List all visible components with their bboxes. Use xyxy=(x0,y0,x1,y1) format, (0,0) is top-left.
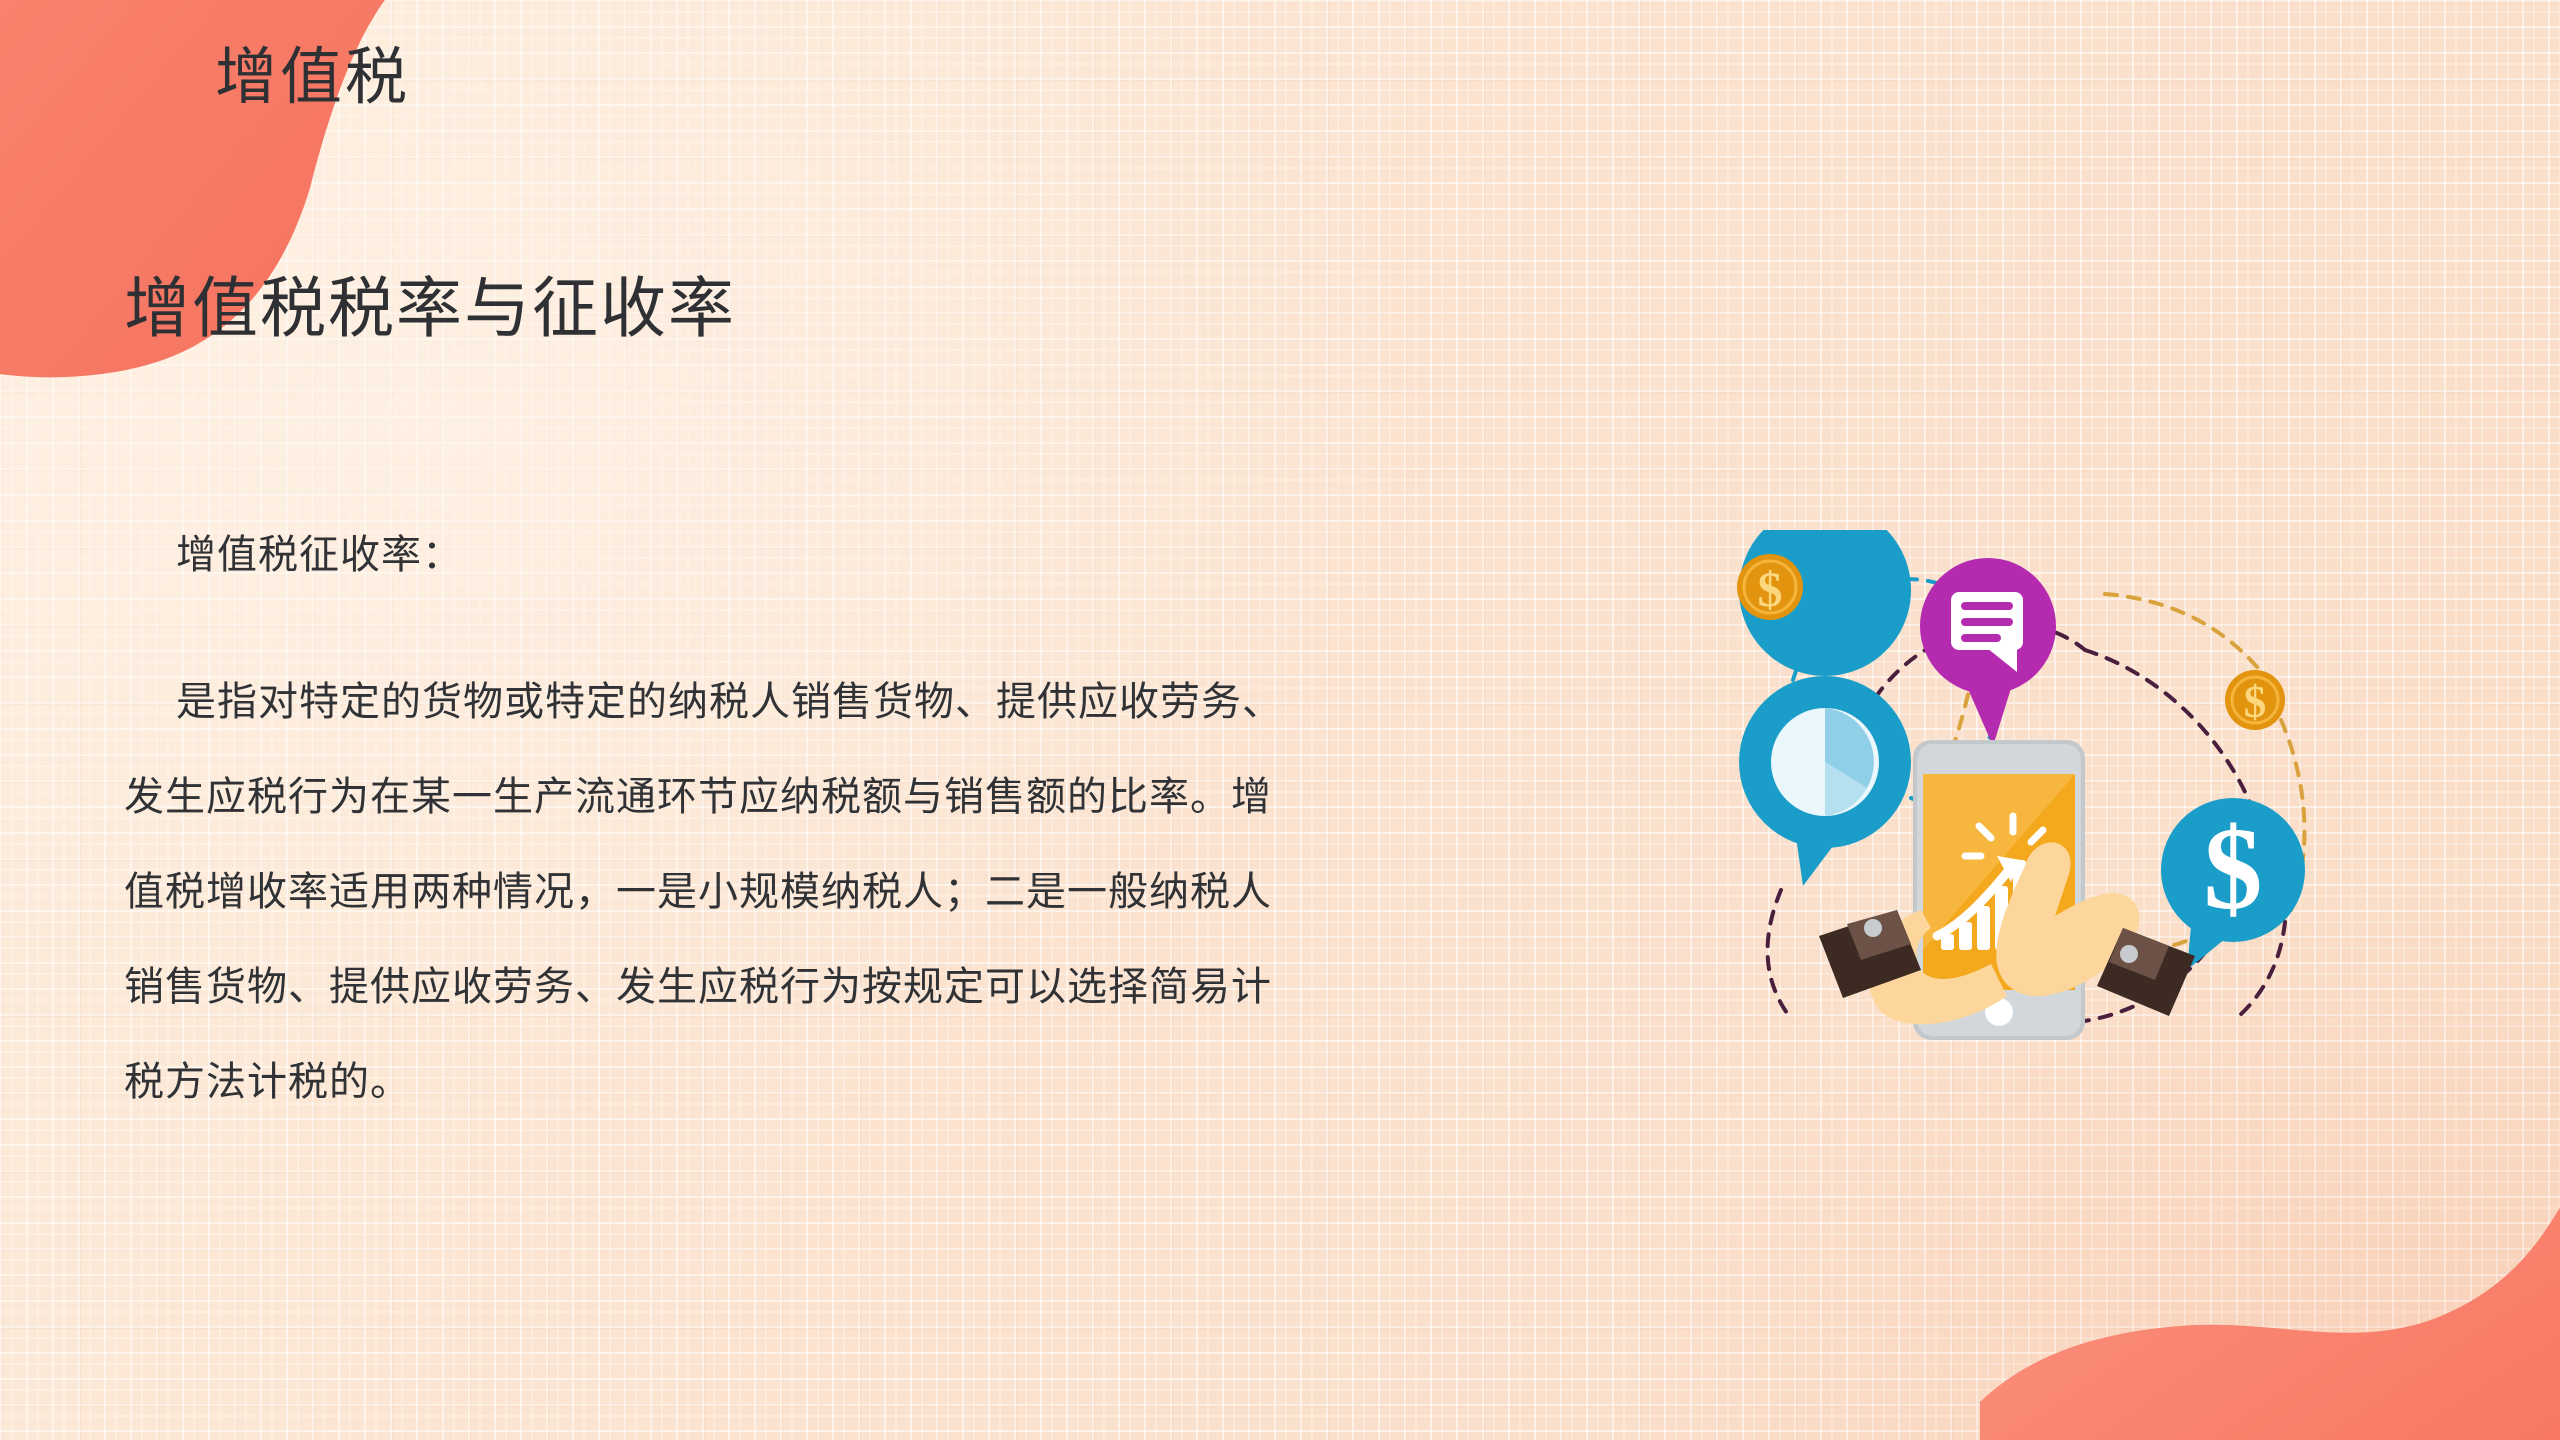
body-line: 是指对特定的货物或特定的纳税人销售货物、提供应收劳务、 xyxy=(124,655,1544,750)
body-line: 税方法计税的。 xyxy=(124,1035,1544,1130)
section-heading: 增值税税率与征收率 xyxy=(124,272,736,346)
corner-decoration-bottom-right xyxy=(1980,1140,2560,1440)
coin-top-left: $ xyxy=(1737,554,1803,620)
body-line: 值税增收率适用两种情况，一是小规模纳税人；二是一般纳税人 xyxy=(124,845,1544,940)
mobile-finance-illustration: $ $ $ $ xyxy=(1725,530,2345,1050)
dollar-sign-large: $ xyxy=(2204,803,2263,934)
orbit-dashed-plum-bottom-left xyxy=(1768,890,1789,1016)
body-text-block: 增值税征收率： 是指对特定的货物或特定的纳税人销售货物、提供应收劳务、 发生应税… xyxy=(124,508,1544,1130)
left-cuff-button xyxy=(1864,919,1882,937)
body-line: 销售货物、提供应收劳务、发生应税行为按规定可以选择简易计 xyxy=(124,940,1544,1035)
slide-canvas: 增值税 增值税税率与征收率 增值税征收率： 是指对特定的货物或特定的纳税人销售货… xyxy=(0,0,2560,1440)
coin-top-right: $ xyxy=(2225,670,2285,730)
chat-bubble-purple xyxy=(1920,558,2056,746)
orbit-dashed-plum-right xyxy=(2085,650,2253,810)
body-line: 增值税征收率： xyxy=(124,508,1544,603)
svg-text:$: $ xyxy=(2244,677,2267,727)
page-title: 增值税 xyxy=(215,42,410,113)
svg-text:$: $ xyxy=(1758,561,1783,617)
body-line: 发生应税行为在某一生产流通环节应纳税额与销售额的比率。增 xyxy=(124,750,1544,845)
right-cuff-button xyxy=(2120,945,2138,963)
